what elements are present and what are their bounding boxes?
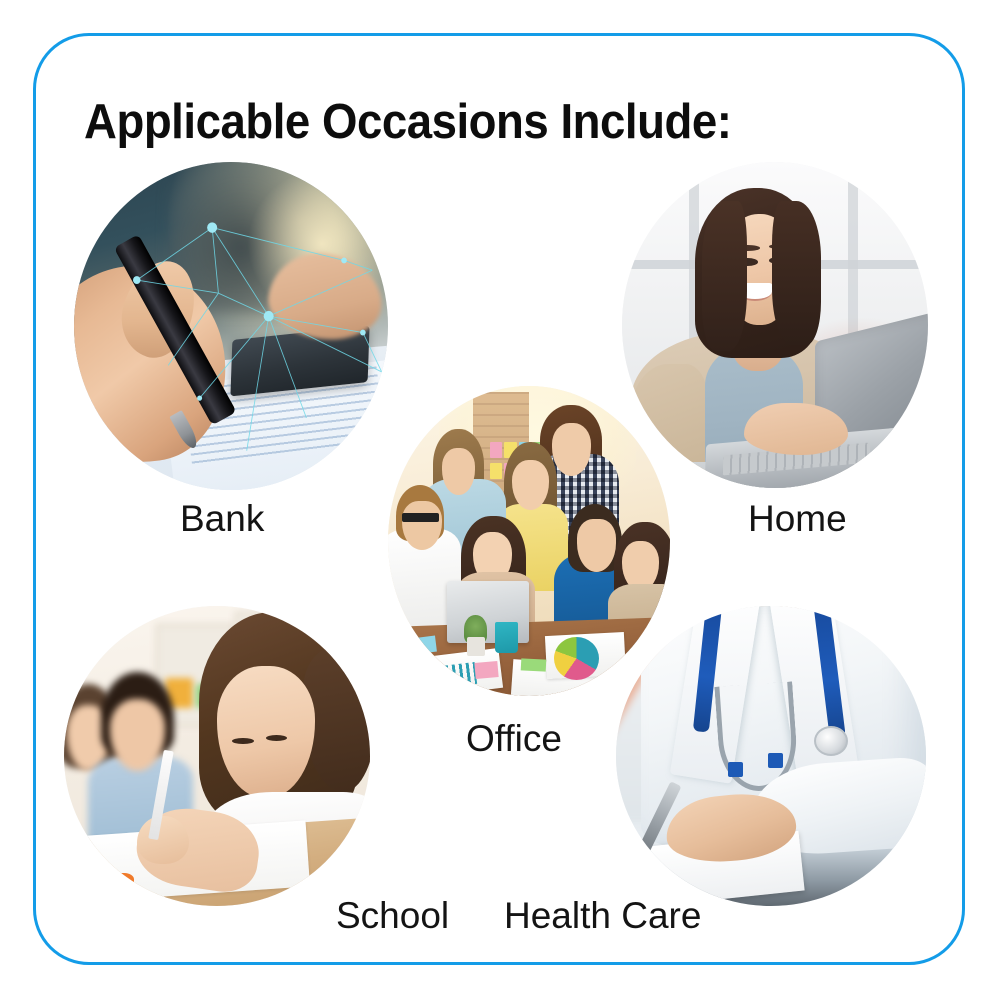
- occasion-label-home: Home: [748, 498, 847, 540]
- occasion-tile-health-care[interactable]: [616, 606, 926, 906]
- occasion-label-office: Office: [466, 718, 562, 760]
- data-network-overlay: [74, 162, 388, 490]
- hair-front-left: [702, 201, 748, 351]
- foam-letter: [107, 873, 135, 891]
- sticky-note-on-table: [410, 636, 437, 654]
- girl-eye: [232, 738, 253, 744]
- foam-letter: [116, 891, 147, 906]
- stethoscope-clip: [768, 753, 784, 768]
- occasion-label-health-care: Health Care: [504, 895, 701, 937]
- bank-scene: [74, 162, 388, 490]
- bank-photo: [74, 162, 388, 490]
- hair-front-right: [772, 201, 821, 344]
- eyeglasses-icon: [402, 513, 439, 522]
- stethoscope-clip: [728, 762, 744, 777]
- foam-letter: [73, 855, 97, 870]
- promo-infographic: Applicable Occasions Include:: [0, 0, 1000, 1000]
- school-scene: [64, 606, 370, 906]
- plant-pot: [467, 637, 485, 656]
- health-care-photo: [616, 606, 926, 906]
- health-care-scene: [616, 606, 926, 906]
- sticky-note: [490, 463, 502, 479]
- occasion-label-school: School: [336, 895, 449, 937]
- colleague-right-face: [622, 541, 659, 591]
- pen-cup: [495, 622, 518, 653]
- occasion-tile-bank[interactable]: [74, 162, 388, 490]
- occasion-label-bank: Bank: [180, 498, 264, 540]
- page-title: Applicable Occasions Include:: [84, 94, 731, 150]
- foam-letter: [82, 873, 106, 888]
- sticky-note: [490, 442, 502, 458]
- school-photo: [64, 606, 370, 906]
- sticky-note-on-table: [475, 661, 499, 678]
- sticky-note-on-table: [520, 658, 546, 672]
- girl-hand: [137, 816, 189, 864]
- occasion-tile-school[interactable]: [64, 606, 370, 906]
